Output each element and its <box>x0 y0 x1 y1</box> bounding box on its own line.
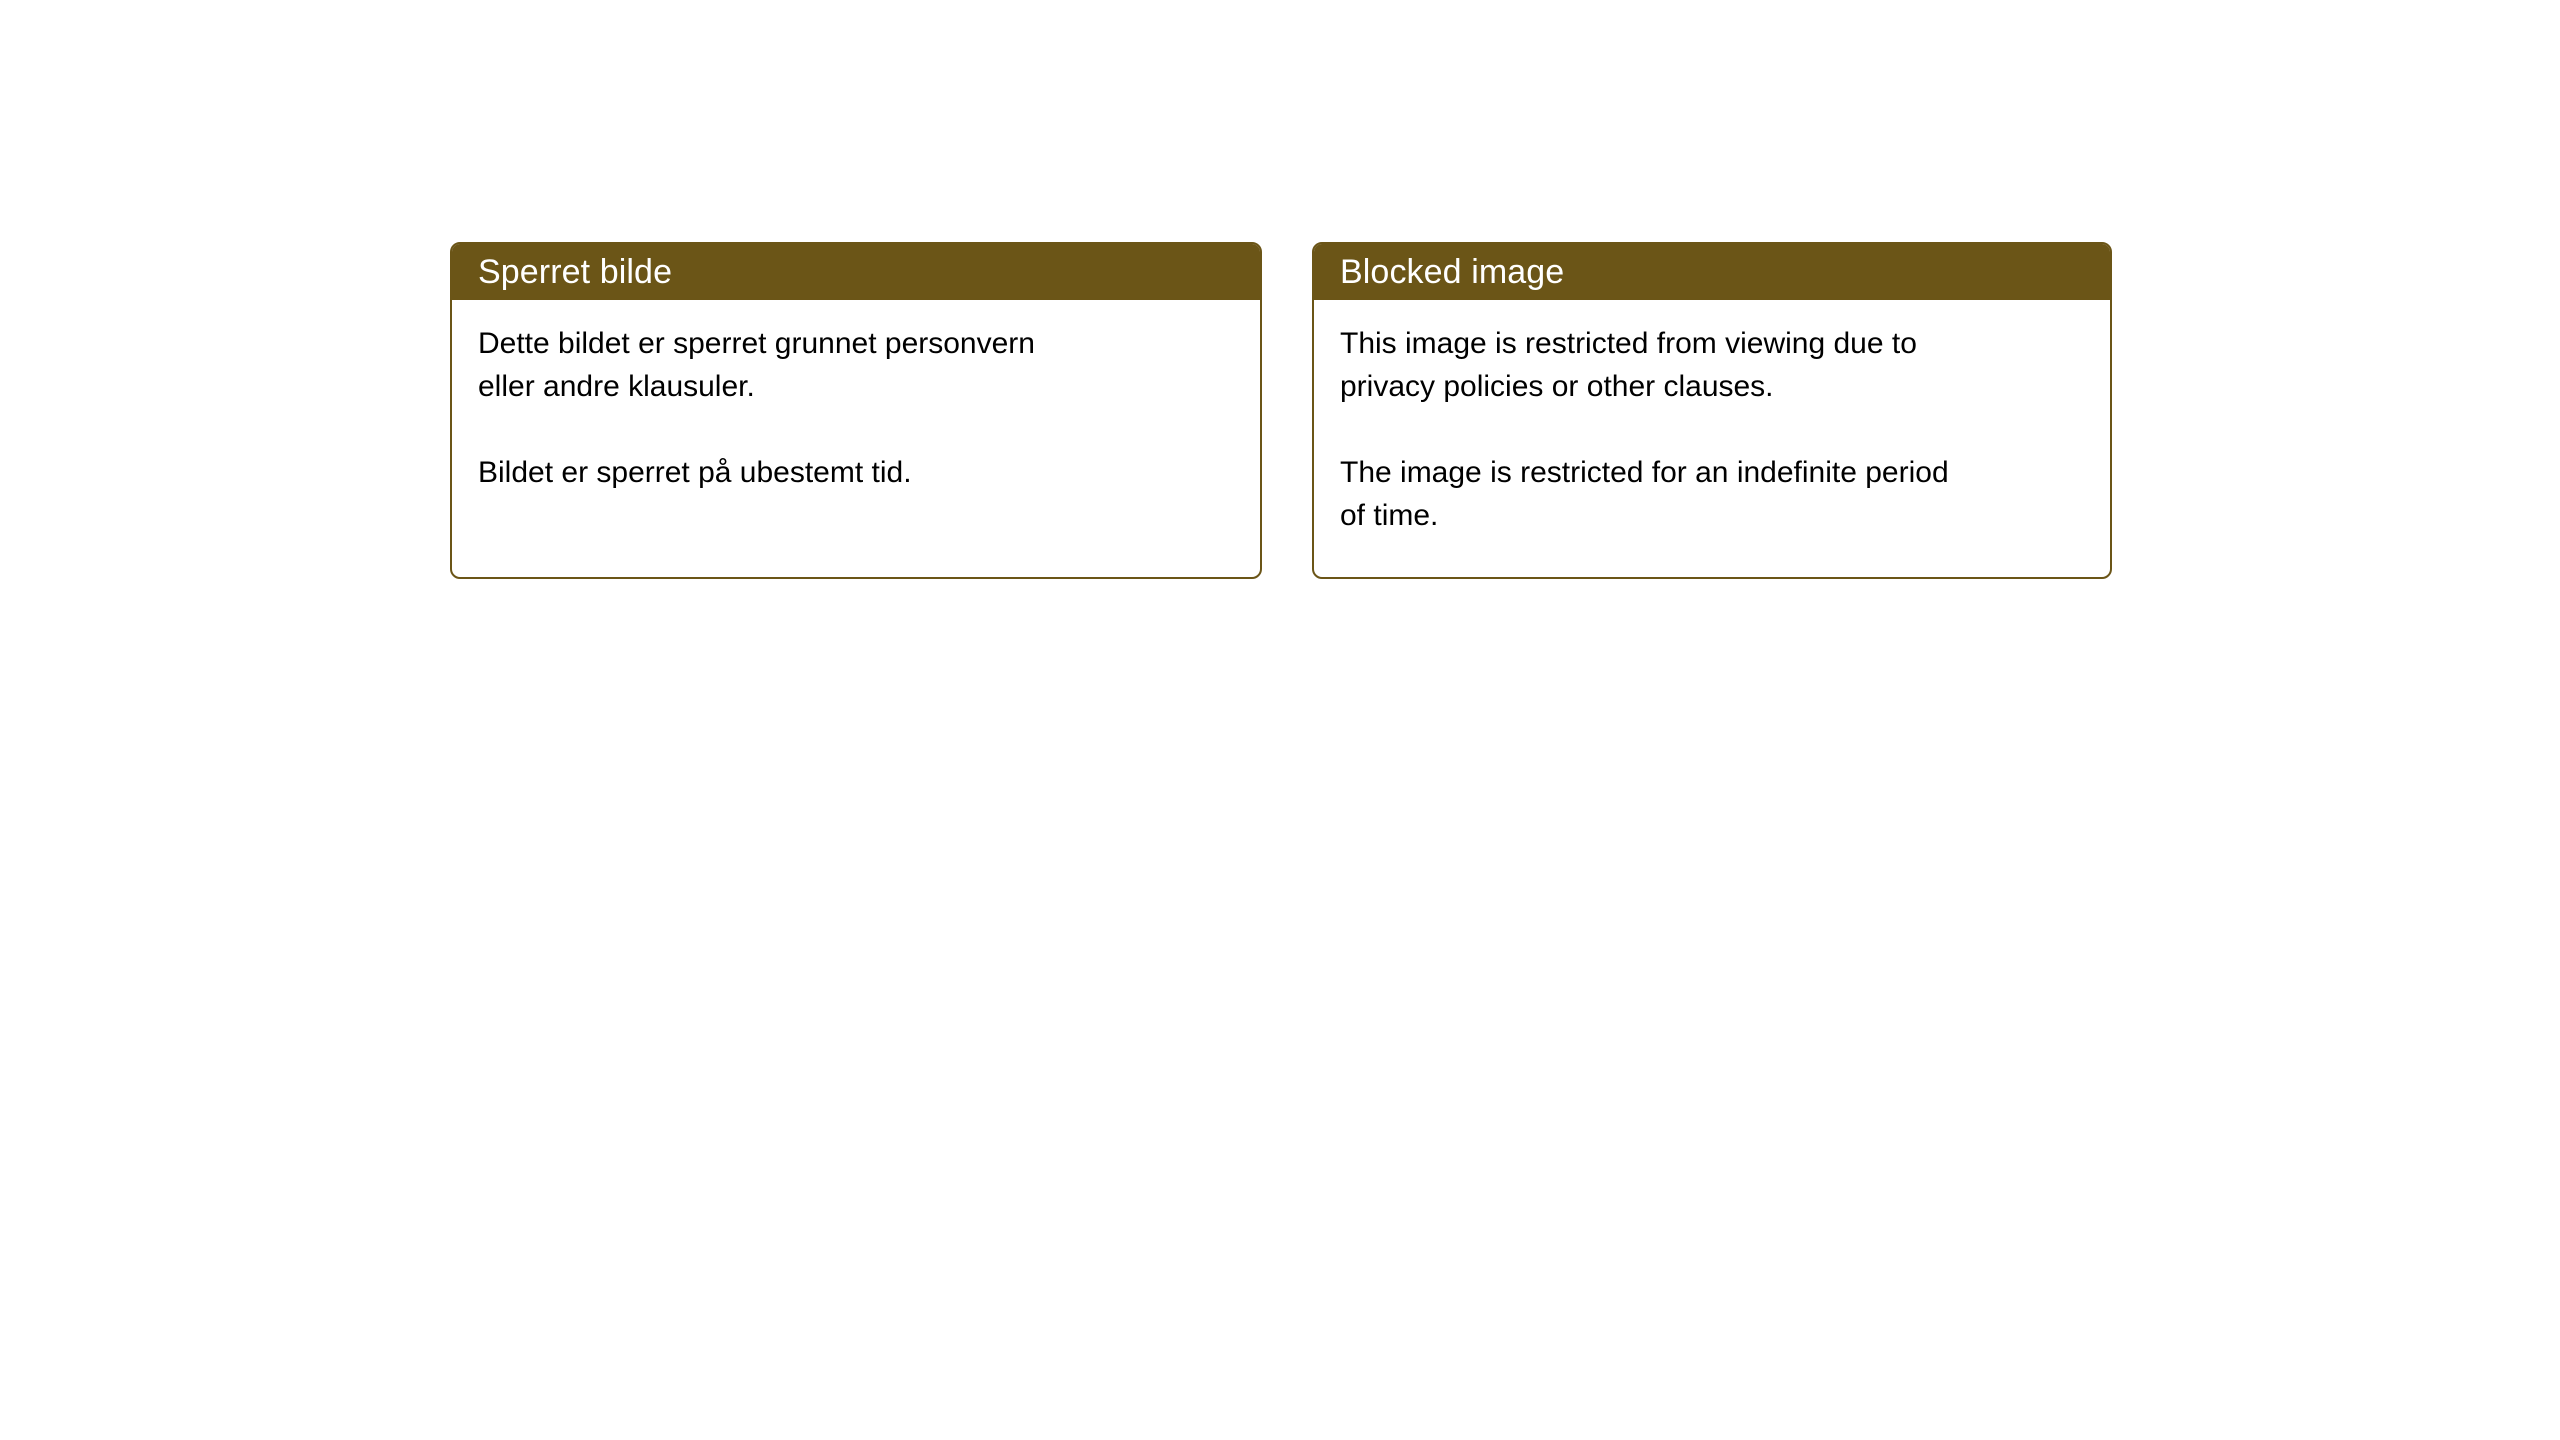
blocked-image-notice-card-norwegian: Sperret bilde Dette bildet er sperret gr… <box>450 242 1262 579</box>
card-paragraph-primary-norwegian: Dette bildet er sperret grunnet personve… <box>478 322 1234 408</box>
card-paragraph-secondary-english: The image is restricted for an indefinit… <box>1340 451 2084 537</box>
card-header-norwegian: Sperret bilde <box>452 244 1260 300</box>
blocked-image-notice-card-english: Blocked image This image is restricted f… <box>1312 242 2112 579</box>
card-header-english: Blocked image <box>1314 244 2110 300</box>
card-paragraph-secondary-norwegian: Bildet er sperret på ubestemt tid. <box>478 451 1234 494</box>
card-title-english: Blocked image <box>1340 255 1564 289</box>
page-canvas: Sperret bilde Dette bildet er sperret gr… <box>0 0 2560 1440</box>
paragraph-spacer <box>1340 408 2084 451</box>
card-body-norwegian: Dette bildet er sperret grunnet personve… <box>452 300 1260 494</box>
card-paragraph-primary-english: This image is restricted from viewing du… <box>1340 322 2084 408</box>
card-body-english: This image is restricted from viewing du… <box>1314 300 2110 537</box>
card-title-norwegian: Sperret bilde <box>478 255 672 289</box>
paragraph-spacer <box>478 408 1234 451</box>
